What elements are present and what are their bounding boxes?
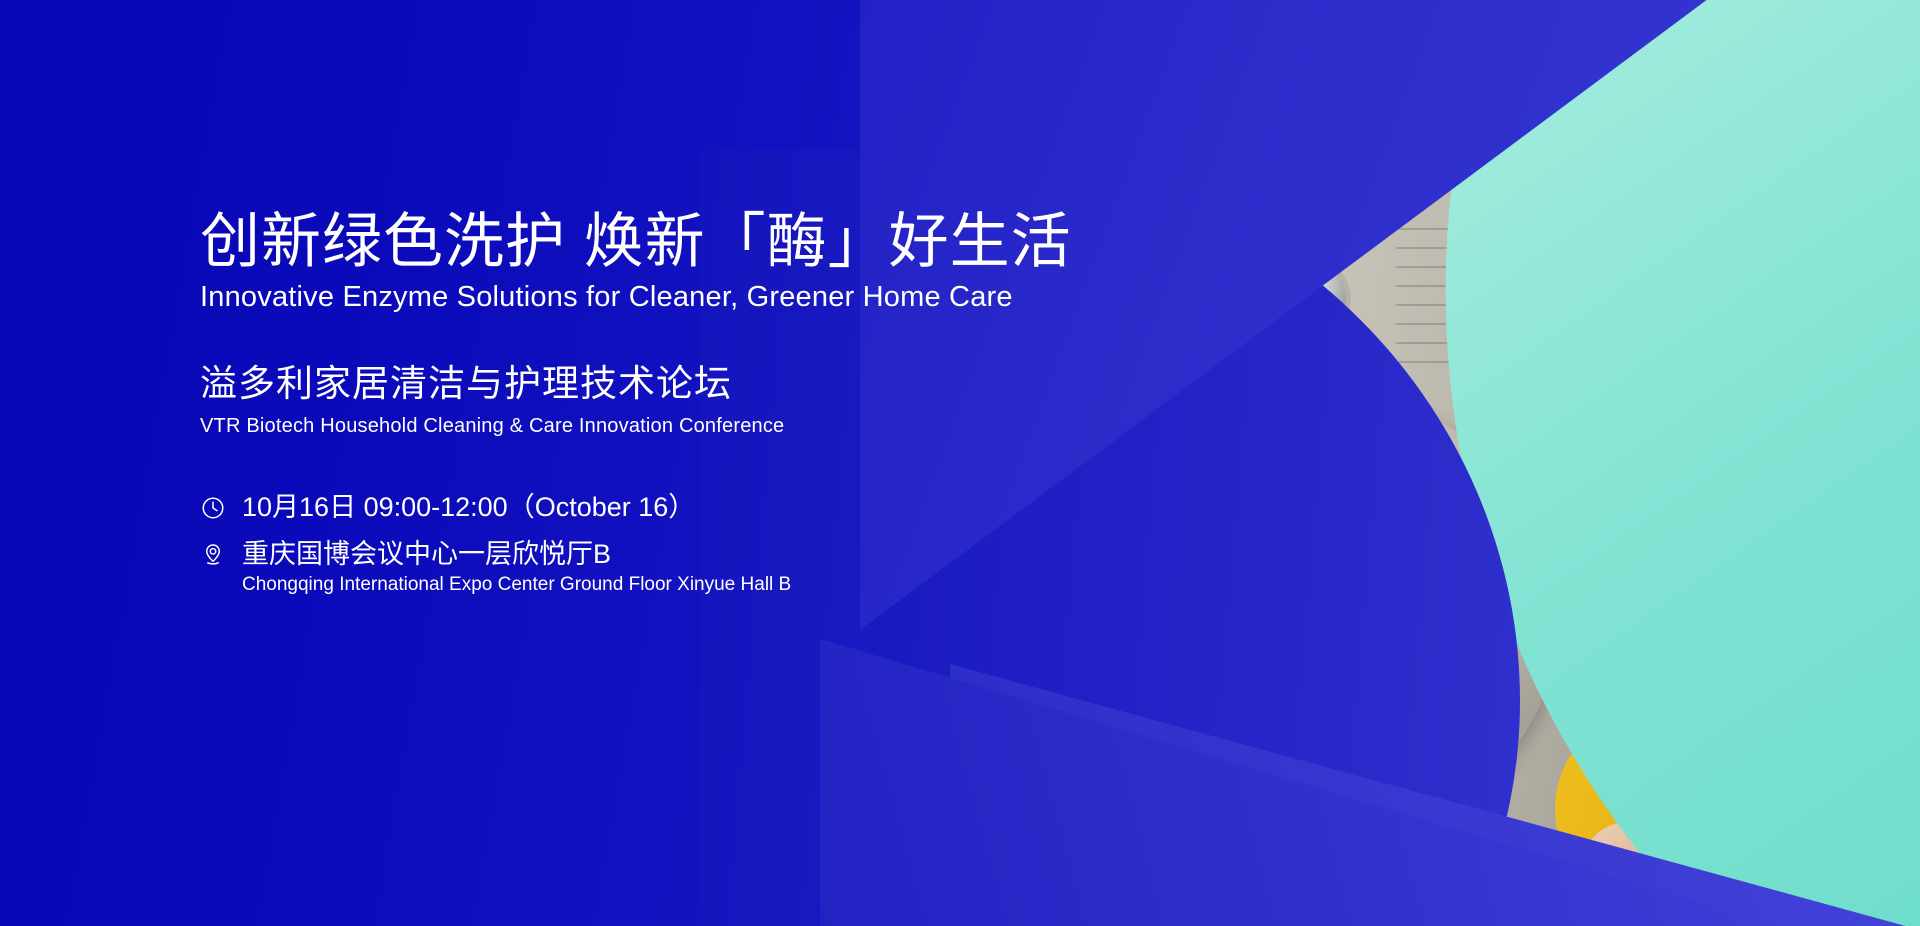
headline-chinese: 创新绿色洗护 焕新「酶」好生活 [200,208,1200,275]
detail-row-time: 10月16日 09:00-12:00（October 16） [200,491,1200,524]
venue-name-english: Chongqing International Expo Center Grou… [242,573,791,598]
detail-row-venue: 重庆国博会议中心一层欣悦厅B Chongqing International E… [200,538,1200,598]
conference-name-chinese: 溢多利家居清洁与护理技术论坛 [200,362,1200,406]
conference-banner: 创新绿色洗护 焕新「酶」好生活 Innovative Enzyme Soluti… [0,0,1920,926]
clock-icon [200,495,226,521]
banner-content: 创新绿色洗护 焕新「酶」好生活 Innovative Enzyme Soluti… [200,208,1200,611]
event-details: 10月16日 09:00-12:00（October 16） 重庆国博会议中心一… [200,491,1200,598]
headline-english: Innovative Enzyme Solutions for Cleaner,… [200,279,1200,316]
conference-name-english: VTR Biotech Household Cleaning & Care In… [200,413,1200,439]
venue-name-chinese: 重庆国博会议中心一层欣悦厅B [242,538,791,571]
location-pin-icon [200,542,226,568]
event-time-text: 10月16日 09:00-12:00（October 16） [242,491,695,524]
